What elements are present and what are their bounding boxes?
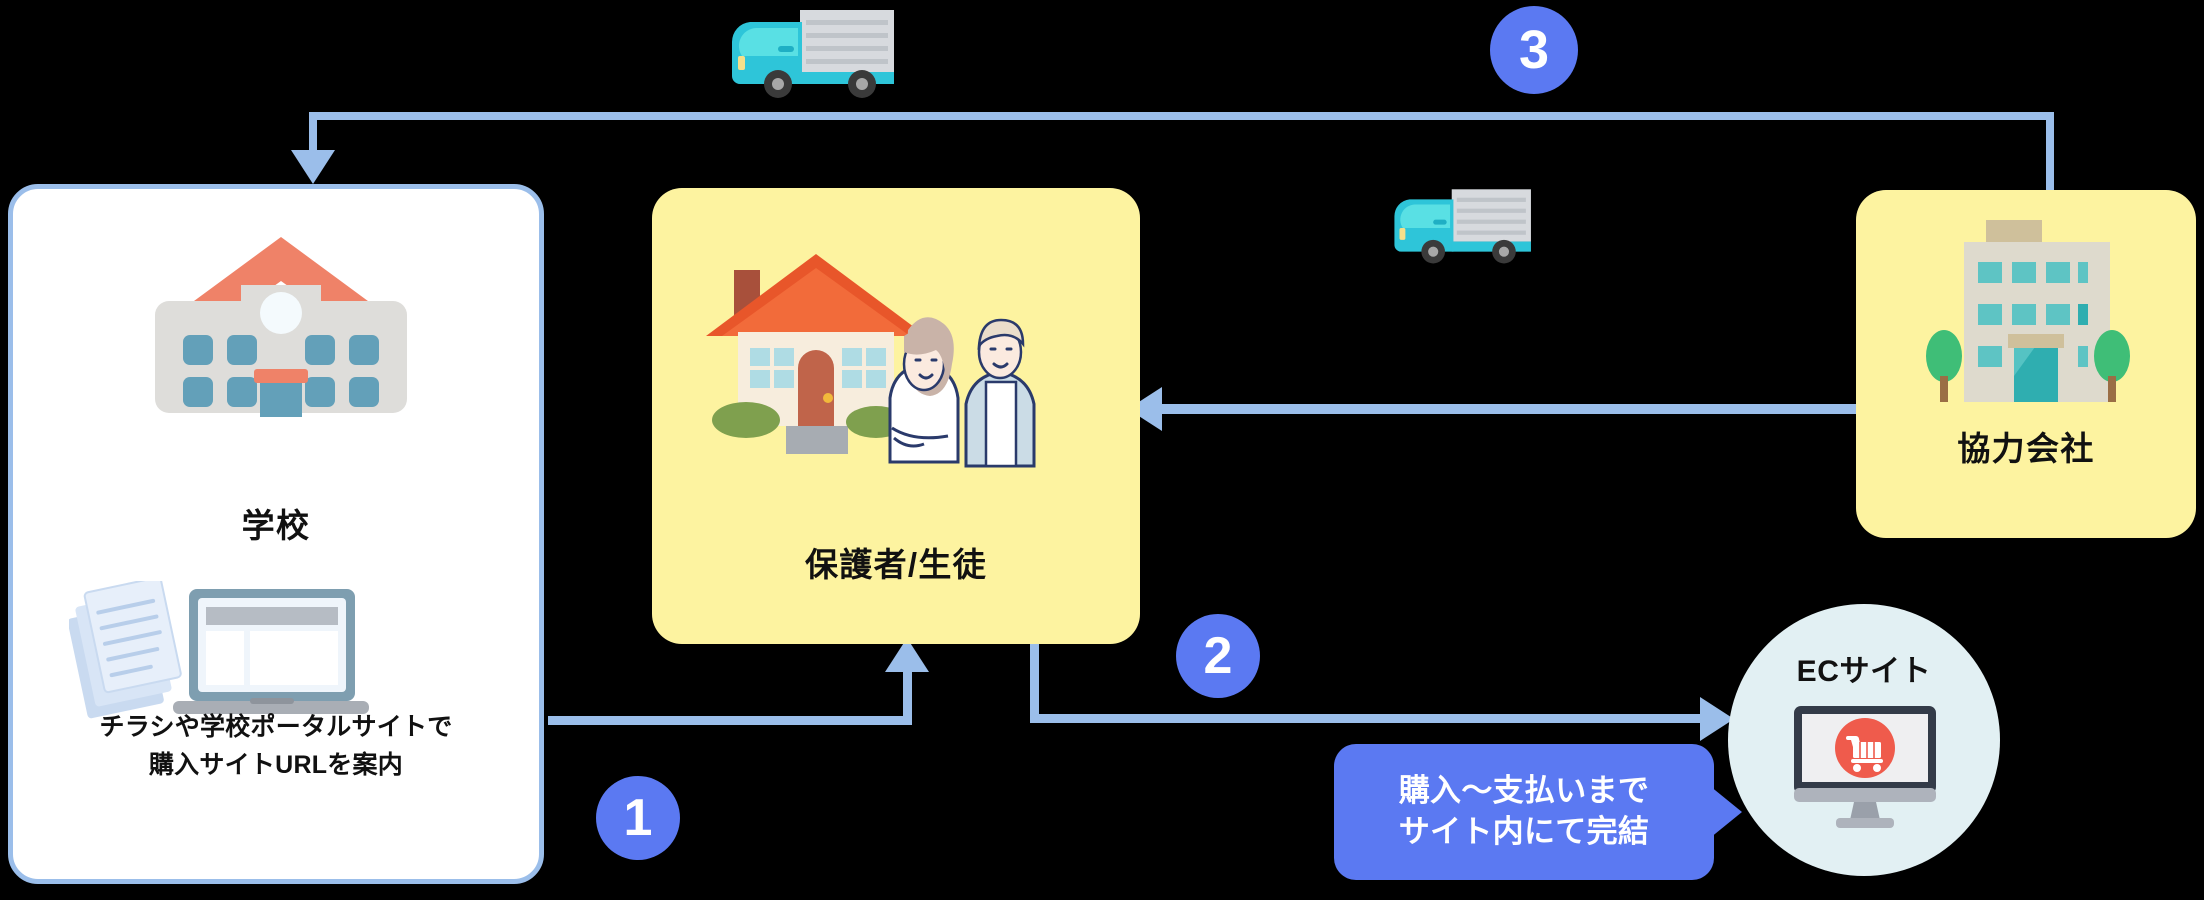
monitor-shopping-cart-icon — [1792, 704, 1938, 832]
node-school-description: チラシや学校ポータルサイトで 購入サイトURLを案内 — [33, 709, 519, 784]
office-building-icon — [1902, 216, 2150, 406]
delivery-truck-icon-top — [722, 2, 900, 98]
connector-2-horizontal — [1030, 714, 1710, 723]
school-building-icon — [141, 229, 421, 429]
node-partner-label: 協力会社 — [1856, 422, 2196, 470]
house-and-family-icon — [694, 232, 1098, 490]
step-1: 1 — [596, 776, 680, 860]
node-school[interactable]: 学校 — [8, 184, 544, 884]
delivery-truck-icon-middle — [1386, 182, 1536, 264]
connector-1-horizontal — [548, 716, 912, 725]
node-partner[interactable]: 協力会社 — [1856, 190, 2196, 538]
diagram-canvas: 学校 — [0, 0, 2204, 900]
flyer-and-laptop-icon — [69, 581, 369, 726]
node-school-description-line1: チラシや学校ポータルサイトで — [33, 709, 519, 747]
node-school-label: 学校 — [13, 499, 539, 547]
connector-2-vertical — [1030, 644, 1039, 722]
step-2: 2 — [1176, 614, 1260, 698]
connector-3-horizontal-top — [309, 112, 2054, 120]
connector-3-vertical-right — [2046, 112, 2054, 194]
node-ec-site-label: ECサイト — [1728, 646, 2000, 690]
node-ec-site[interactable]: ECサイト — [1728, 604, 2000, 876]
callout-purchase-to-payment: 購入〜支払いまで サイト内にて完結 — [1334, 744, 1714, 880]
node-school-description-line2: 購入サイトURLを案内 — [33, 747, 519, 785]
connector-partner-to-parents — [1155, 404, 1860, 414]
step-3: 3 — [1490, 6, 1578, 94]
node-parents[interactable]: 保護者/生徒 — [652, 188, 1140, 644]
callout-line2: サイト内にて完結 — [1399, 812, 1649, 853]
callout-line1: 購入〜支払いまで — [1399, 771, 1649, 812]
node-parents-label: 保護者/生徒 — [652, 538, 1140, 586]
connector-3-arrowhead — [291, 150, 335, 184]
